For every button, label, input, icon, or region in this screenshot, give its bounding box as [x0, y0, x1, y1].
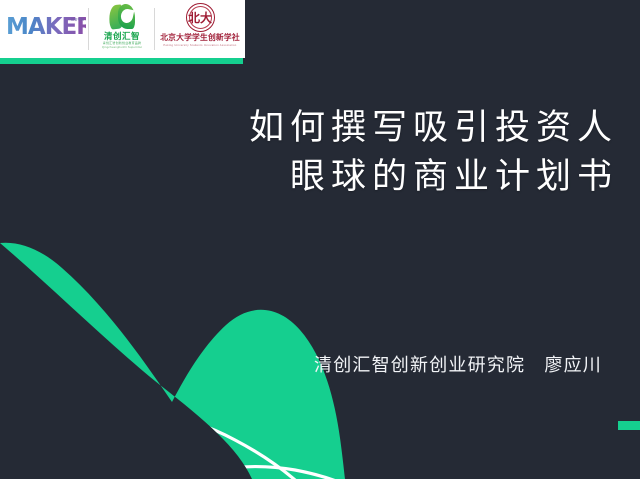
title-line-2: 眼球的商业计划书 — [249, 152, 618, 201]
maker-logo-subtext: 创客学院 — [61, 18, 84, 22]
logo-divider-2 — [154, 8, 155, 50]
title-line-1: 如何撰写吸引投资人 — [249, 103, 618, 152]
presentation-title-slide: MAKER 创客学院 清创汇智 青创汇智创新创业教育品牌 Qingchuangh… — [0, 0, 640, 479]
qingchuang-huizhi-subtext-en: Qingchuanghuizhi Supertilist — [94, 45, 149, 49]
pku-seal-icon: 北大 — [186, 3, 215, 32]
slide-title: 如何撰写吸引投资人 眼球的商业计划书 — [249, 103, 618, 201]
green-leaf-icon — [109, 4, 135, 30]
qingchuang-huizhi-name: 清创汇智 — [92, 31, 152, 41]
pku-association-name: 北京大学学生创新学社 — [159, 33, 240, 43]
qingchuang-huizhi-logo: 清创汇智 青创汇智创新创业教育品牌 Qingchuanghuizhi Super… — [92, 4, 152, 56]
pku-association-name-en: Peking University Students Innovation As… — [162, 43, 238, 47]
logo-divider-1 — [88, 8, 89, 50]
slide-byline: 清创汇智创新创业研究院 廖应川 — [314, 352, 602, 378]
pku-seal-glyph: 北大 — [187, 11, 214, 23]
maker-wordmark: MAKER — [6, 12, 86, 42]
maker-logo: MAKER 创客学院 — [6, 12, 86, 42]
partner-logo-row: MAKER 创客学院 清创汇智 青创汇智创新创业教育品牌 Qingchuangh… — [0, 0, 245, 58]
right-edge-accent-bar — [618, 421, 640, 430]
pku-innovation-logo: 北大 北京大学学生创新学社 Peking University Students… — [158, 3, 242, 57]
header-accent-stripe — [0, 58, 243, 64]
decorative-wave-artwork — [0, 0, 640, 479]
green-wave-shape — [0, 243, 345, 479]
